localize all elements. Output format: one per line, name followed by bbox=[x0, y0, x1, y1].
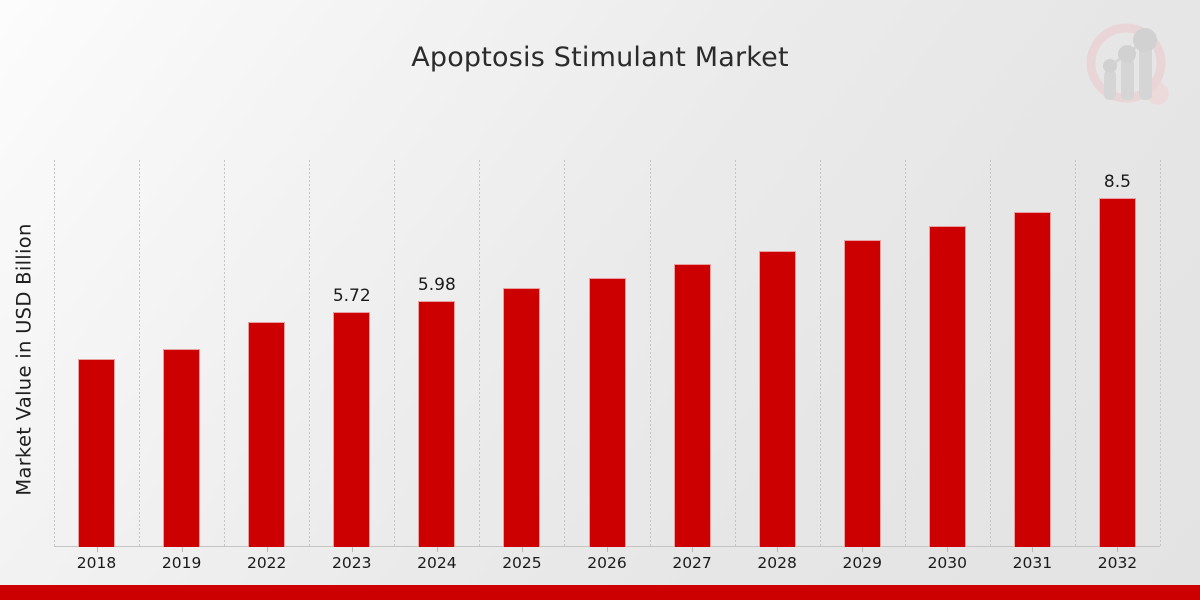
x-tick-label-2032: 2032 bbox=[1077, 554, 1157, 572]
bar-2022[interactable] bbox=[248, 322, 285, 547]
x-tick-label-2027: 2027 bbox=[652, 554, 732, 572]
tick-mark-2028 bbox=[777, 547, 778, 552]
bar-2018[interactable] bbox=[78, 359, 115, 547]
x-tick-label-2024: 2024 bbox=[397, 554, 477, 572]
x-tick-label-2018: 2018 bbox=[57, 554, 137, 572]
bar-2028[interactable] bbox=[759, 251, 796, 547]
chart-canvas: Apoptosis Stimulant Market Market Value … bbox=[0, 0, 1200, 600]
bar-2029[interactable] bbox=[844, 240, 881, 547]
tick-mark-2027 bbox=[692, 547, 693, 552]
bar-2023[interactable] bbox=[333, 312, 370, 547]
footer-accent-bar bbox=[0, 585, 1200, 600]
x-tick-label-2030: 2030 bbox=[907, 554, 987, 572]
tick-mark-2022 bbox=[267, 547, 268, 552]
bar-2025[interactable] bbox=[503, 288, 540, 547]
x-tick-label-2029: 2029 bbox=[822, 554, 902, 572]
y-axis-label: Market Value in USD Billion bbox=[13, 130, 36, 590]
magnifier-handle-icon bbox=[1137, 73, 1174, 110]
x-tick-label-2031: 2031 bbox=[992, 554, 1072, 572]
bar-2026[interactable] bbox=[589, 278, 626, 547]
bar-value-label-2023: 5.72 bbox=[312, 286, 392, 306]
x-tick-label-2028: 2028 bbox=[737, 554, 817, 572]
bar-2032[interactable] bbox=[1099, 198, 1136, 547]
tick-mark-2018 bbox=[97, 547, 98, 552]
tick-mark-2031 bbox=[1032, 547, 1033, 552]
tick-mark-2024 bbox=[437, 547, 438, 552]
bar-2027[interactable] bbox=[674, 264, 711, 547]
tick-mark-2019 bbox=[182, 547, 183, 552]
x-tick-label-2022: 2022 bbox=[227, 554, 307, 572]
bar-value-label-2024: 5.98 bbox=[397, 275, 477, 295]
tick-mark-2026 bbox=[607, 547, 608, 552]
x-tick-label-2023: 2023 bbox=[312, 554, 392, 572]
bar-value-label-2032: 8.5 bbox=[1077, 172, 1157, 192]
bar-2030[interactable] bbox=[929, 226, 966, 547]
page-title: Apoptosis Stimulant Market bbox=[0, 42, 1200, 73]
x-tick-label-2026: 2026 bbox=[567, 554, 647, 572]
gridline bbox=[1160, 160, 1161, 547]
tick-mark-2032 bbox=[1117, 547, 1118, 552]
tick-mark-2029 bbox=[862, 547, 863, 552]
bar-2024[interactable] bbox=[418, 301, 455, 547]
bar-2031[interactable] bbox=[1014, 212, 1051, 547]
tick-mark-2030 bbox=[947, 547, 948, 552]
x-tick-label-2019: 2019 bbox=[142, 554, 222, 572]
plot-area bbox=[54, 160, 1160, 547]
tick-mark-2025 bbox=[522, 547, 523, 552]
x-tick-label-2025: 2025 bbox=[482, 554, 562, 572]
tick-mark-2023 bbox=[352, 547, 353, 552]
bar-2019[interactable] bbox=[163, 349, 200, 547]
